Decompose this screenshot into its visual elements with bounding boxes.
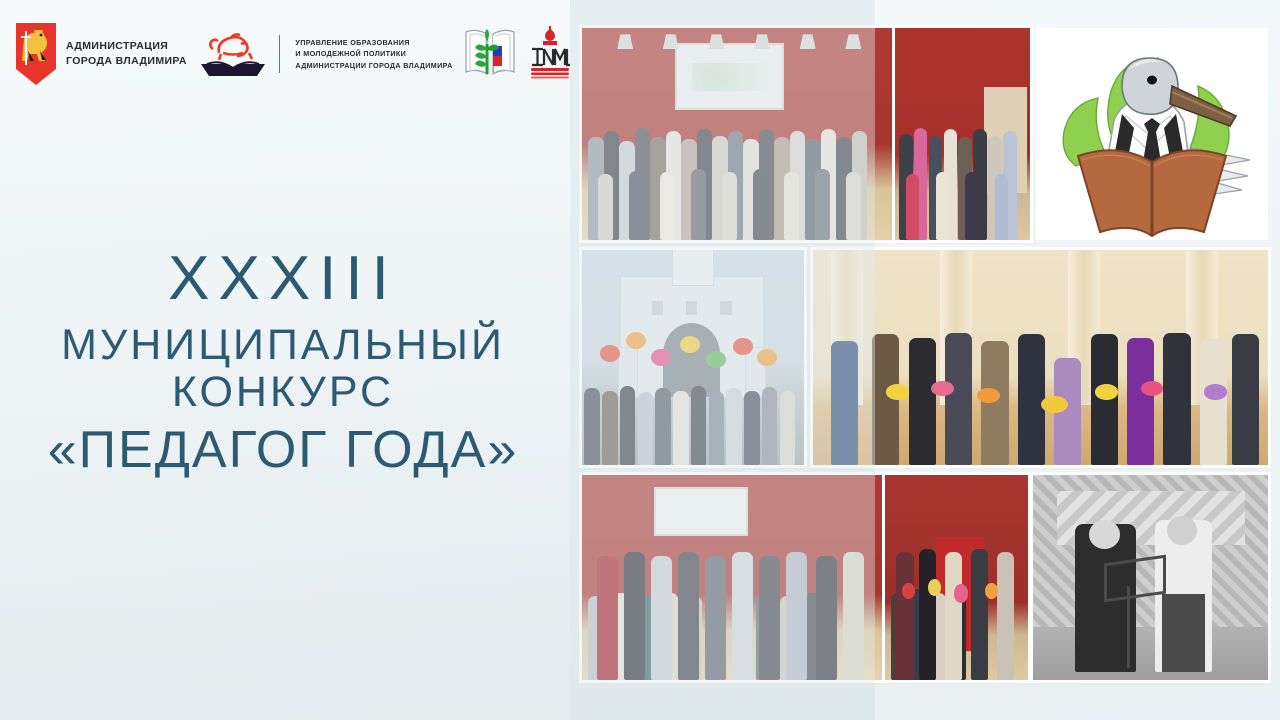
- education-caption-line2: И МОЛОДЕЖНОЙ ПОЛИТИКИ: [295, 48, 452, 60]
- photo-group-hall-left: [582, 28, 892, 240]
- open-book-with-green-plant-and-russian-flag-icon: [463, 22, 517, 86]
- gimc-logo-icon: [527, 25, 573, 83]
- title-line-teacher-of-the-year: «ПЕДАГОГ ГОДА»: [0, 424, 566, 476]
- logo-strip: АДМИНИСТРАЦИЯ ГОРОДА ВЛАДИМИРА: [14, 14, 566, 94]
- administration-caption-line1: АДМИНИСТРАЦИЯ: [66, 39, 187, 54]
- logo-divider: [279, 35, 281, 73]
- education-department-caption: УПРАВЛЕНИЕ ОБРАЗОВАНИЯ И МОЛОДЕЖНОЙ ПОЛИ…: [295, 37, 452, 72]
- education-caption-line1: УПРАВЛЕНИЕ ОБРАЗОВАНИЯ: [295, 37, 452, 49]
- photo-finalists-red: [885, 475, 1028, 680]
- emblem-stork-book: [1036, 28, 1268, 240]
- vladimir-coat-of-arms-icon: [14, 21, 58, 87]
- photo-group-hall-right: [895, 28, 1030, 240]
- logo-administration-vladimir: АДМИНИСТРАЦИЯ ГОРОДА ВЛАДИМИРА: [14, 21, 187, 87]
- title-line-municipal: МУНИЦИПАЛЬНЫЙ: [0, 324, 566, 367]
- administration-caption: АДМИНИСТРАЦИЯ ГОРОДА ВЛАДИМИРА: [66, 39, 187, 69]
- title-roman-number: XXXIII: [0, 248, 566, 310]
- logo-education-department: УПРАВЛЕНИЕ ОБРАЗОВАНИЯ И МОЛОДЕЖНОЙ ПОЛИ…: [197, 27, 453, 81]
- photo-laureates-flowers: [582, 475, 882, 680]
- photo-award-bouquets: [813, 250, 1268, 465]
- slide-title: XXXIII МУНИЦИПАЛЬНЫЙ КОНКУРС «ПЕДАГОГ ГО…: [0, 248, 566, 476]
- lion-on-open-book-icon: [197, 27, 269, 81]
- title-line-contest: КОНКУРС: [0, 371, 566, 414]
- administration-caption-line2: ГОРОДА ВЛАДИМИРА: [66, 54, 187, 69]
- presentation-slide: АДМИНИСТРАЦИЯ ГОРОДА ВЛАДИМИРА: [0, 0, 1280, 720]
- photo-archive-bw: [1033, 475, 1268, 680]
- education-caption-line3: АДМИНИСТРАЦИИ ГОРОДА ВЛАДИМИРА: [295, 60, 452, 72]
- photo-collage: [570, 0, 1280, 720]
- stork-reading-book-icon: [1036, 28, 1268, 240]
- photo-golden-gates: [582, 250, 804, 465]
